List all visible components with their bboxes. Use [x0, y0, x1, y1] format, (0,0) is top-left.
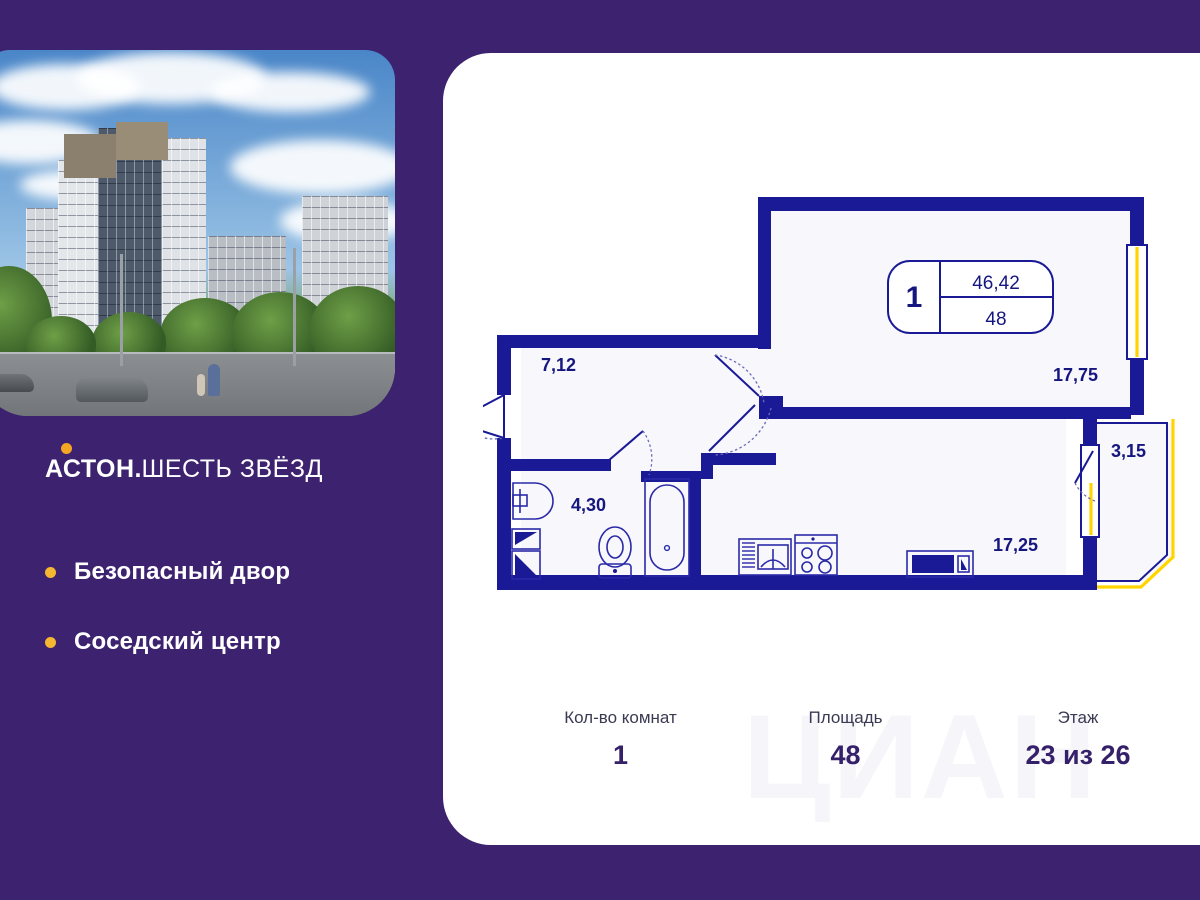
svg-text:7,12: 7,12 [541, 355, 576, 375]
brand-name-separator: . [135, 455, 142, 484]
stat-area: Площадь 48 [738, 708, 953, 771]
brand-name-light: ШЕСТЬ ЗВЁЗД [141, 455, 322, 484]
dot-icon [61, 443, 72, 454]
building-cap-shape [116, 122, 168, 160]
stat-floor: Этаж 23 из 26 [953, 708, 1200, 771]
feature-label: Безопасный двор [74, 558, 290, 586]
person-shape [208, 364, 220, 396]
svg-text:3,15: 3,15 [1111, 441, 1146, 461]
svg-text:48: 48 [985, 309, 1006, 330]
svg-text:17,25: 17,25 [993, 535, 1038, 555]
stat-value: 48 [738, 740, 953, 771]
person-shape [197, 374, 205, 396]
svg-text:17,75: 17,75 [1053, 365, 1098, 385]
stats-row: Кол-во комнат 1 Площадь 48 Этаж 23 из 26 [503, 708, 1200, 771]
left-info-panel: АСТОН . ШЕСТЬ ЗВЁЗД Безопасный двор Сосе… [0, 0, 440, 900]
stat-label: Этаж [953, 708, 1200, 728]
feature-label: Соседский центр [74, 628, 281, 656]
stat-label: Площадь [738, 708, 953, 728]
lamp-post-shape [120, 254, 123, 366]
svg-text:46,42: 46,42 [972, 273, 1020, 294]
brand-name-bold: АСТОН [45, 455, 135, 484]
feature-item-1: Соседский центр [45, 628, 281, 656]
apartment-badge: 1 46,42 48 [888, 261, 1053, 333]
car-shape [76, 378, 148, 402]
svg-text:4,30: 4,30 [571, 495, 606, 515]
feature-item-0: Безопасный двор [45, 558, 290, 586]
stat-value: 1 [503, 740, 738, 771]
bullet-dot-icon [45, 567, 56, 578]
stat-rooms: Кол-во комнат 1 [503, 708, 738, 771]
car-shape [0, 374, 34, 392]
stat-value: 23 из 26 [953, 740, 1200, 771]
bullet-dot-icon [45, 637, 56, 648]
stat-label: Кол-во комнат [503, 708, 738, 728]
building-cap-shape [64, 134, 116, 178]
cloud-shape [230, 140, 395, 194]
residential-complex-render [0, 50, 395, 416]
floorplan-card: ЦИАН .w{fill:#1a1a96;} .rm{fill:#f7f7fc;… [443, 53, 1200, 845]
svg-text:1: 1 [906, 281, 923, 314]
floorplan-drawing: .w{fill:#1a1a96;} .rm{fill:#f7f7fc;} .th… [483, 183, 1200, 613]
cloud-shape [210, 72, 370, 112]
brand-logo: АСТОН . ШЕСТЬ ЗВЁЗД [45, 455, 323, 484]
lamp-post-shape [293, 248, 296, 366]
